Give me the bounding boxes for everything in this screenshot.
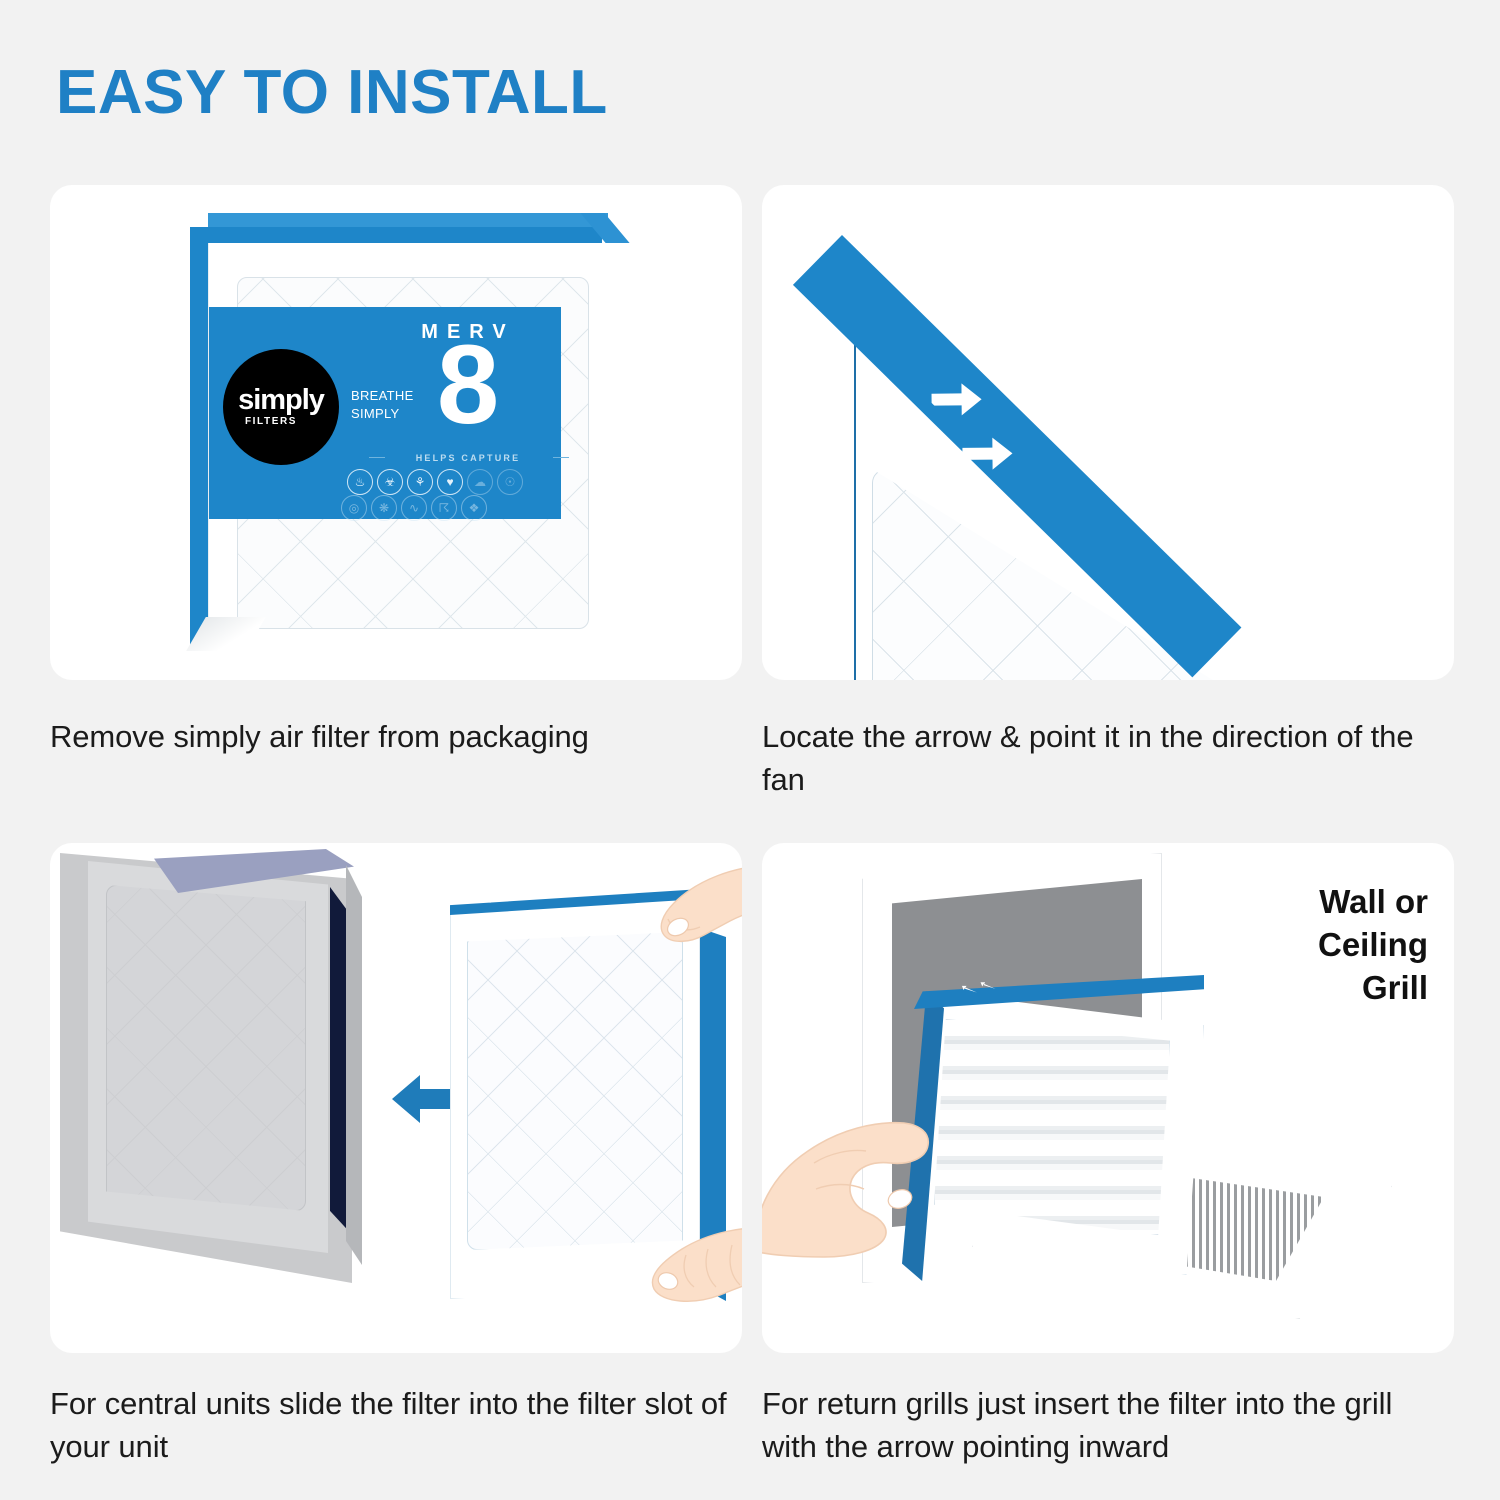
page-title: EASY TO INSTALL — [56, 62, 608, 124]
step-4: Wall or Ceiling Grill For return grills … — [762, 843, 1454, 1469]
hand-holding-grill — [762, 1071, 984, 1271]
pollen-grain-icon: ❋ — [371, 495, 397, 521]
step-1-caption: Remove simply air filter from packaging — [50, 716, 730, 759]
label-line-2: Ceiling — [1218, 924, 1428, 967]
sleeve-left-edge — [190, 227, 208, 647]
grill-filter-blue-top-frame — [914, 975, 1204, 1009]
filter-corner-diagram — [762, 185, 1454, 680]
smoke-icon: ☁ — [467, 469, 493, 495]
hair-icon: ∿ — [401, 495, 427, 521]
pet-dander-icon: ♥ — [437, 469, 463, 495]
helps-capture-rule-right — [553, 457, 569, 458]
label-line-3: Grill — [1218, 967, 1428, 1010]
package-top-arrows — [239, 257, 278, 268]
pollen-icon: ♨ — [347, 469, 373, 495]
capture-icons-row-1: ♨ ☣ ⚘ ♥ ☁ ☉ — [347, 469, 577, 495]
infographic-page: EASY TO INSTALL simply FILTERS — [0, 0, 1500, 1500]
step-3: For central units slide the filter into … — [50, 843, 742, 1469]
package-blue-label: simply FILTERS BREATHE SIMPLY MERV 8 — [209, 307, 561, 519]
steps-grid: simply FILTERS BREATHE SIMPLY MERV 8 — [50, 185, 1450, 1465]
brand-logo-badge: simply FILTERS — [223, 349, 339, 465]
filter-package: simply FILTERS BREATHE SIMPLY MERV 8 — [190, 213, 620, 653]
step-1-illustration-card: simply FILTERS BREATHE SIMPLY MERV 8 — [50, 185, 742, 680]
virus-icon: ❖ — [461, 495, 487, 521]
step-2-caption: Locate the arrow & point it in the direc… — [762, 716, 1442, 802]
capture-icons-row-2: ◎ ❋ ∿ ☈ ❖ — [341, 495, 571, 521]
allergen-icon: ☈ — [431, 495, 457, 521]
mold-spore-icon: ⚘ — [407, 469, 433, 495]
step-1: simply FILTERS BREATHE SIMPLY MERV 8 — [50, 185, 742, 759]
brand-subtitle: FILTERS — [245, 416, 297, 427]
helps-capture-label: HELPS CAPTURE — [384, 453, 552, 463]
hand-lower — [624, 1215, 742, 1335]
wall-or-ceiling-grill-label: Wall or Ceiling Grill — [1218, 881, 1428, 1010]
hand-upper — [638, 863, 742, 993]
central-unit-diagram — [50, 843, 742, 1353]
airflow-arrow-icon — [261, 257, 278, 268]
step-2-illustration-card — [762, 185, 1454, 680]
hvac-unit-side-shade — [346, 865, 362, 1265]
bacteria-icon: ☉ — [497, 469, 523, 495]
step-2: Locate the arrow & point it in the direc… — [762, 185, 1454, 802]
helps-capture-rule-left — [369, 457, 385, 458]
airflow-arrow-icon — [239, 257, 256, 268]
return-grill-diagram: Wall or Ceiling Grill — [762, 843, 1454, 1353]
filter-left-edge-line — [854, 295, 856, 680]
airflow-arrow-icon — [476, 893, 493, 905]
label-line-1: Wall or — [1218, 881, 1428, 924]
airflow-arrow-icon — [495, 891, 512, 903]
step-4-caption: For return grills just insert the filter… — [762, 1383, 1442, 1469]
brand-name: simply — [238, 387, 324, 415]
package-front-face: simply FILTERS BREATHE SIMPLY MERV 8 — [208, 243, 602, 647]
lint-icon: ◎ — [341, 495, 367, 521]
sleeve-top-edge — [190, 227, 602, 243]
dust-mite-icon: ☣ — [377, 469, 403, 495]
hvac-unit-existing-filter — [106, 885, 306, 1211]
step-3-caption: For central units slide the filter into … — [50, 1383, 730, 1469]
step-3-illustration-card — [50, 843, 742, 1353]
merv-value: 8 — [384, 329, 552, 441]
step-4-illustration-card: Wall or Ceiling Grill — [762, 843, 1454, 1353]
